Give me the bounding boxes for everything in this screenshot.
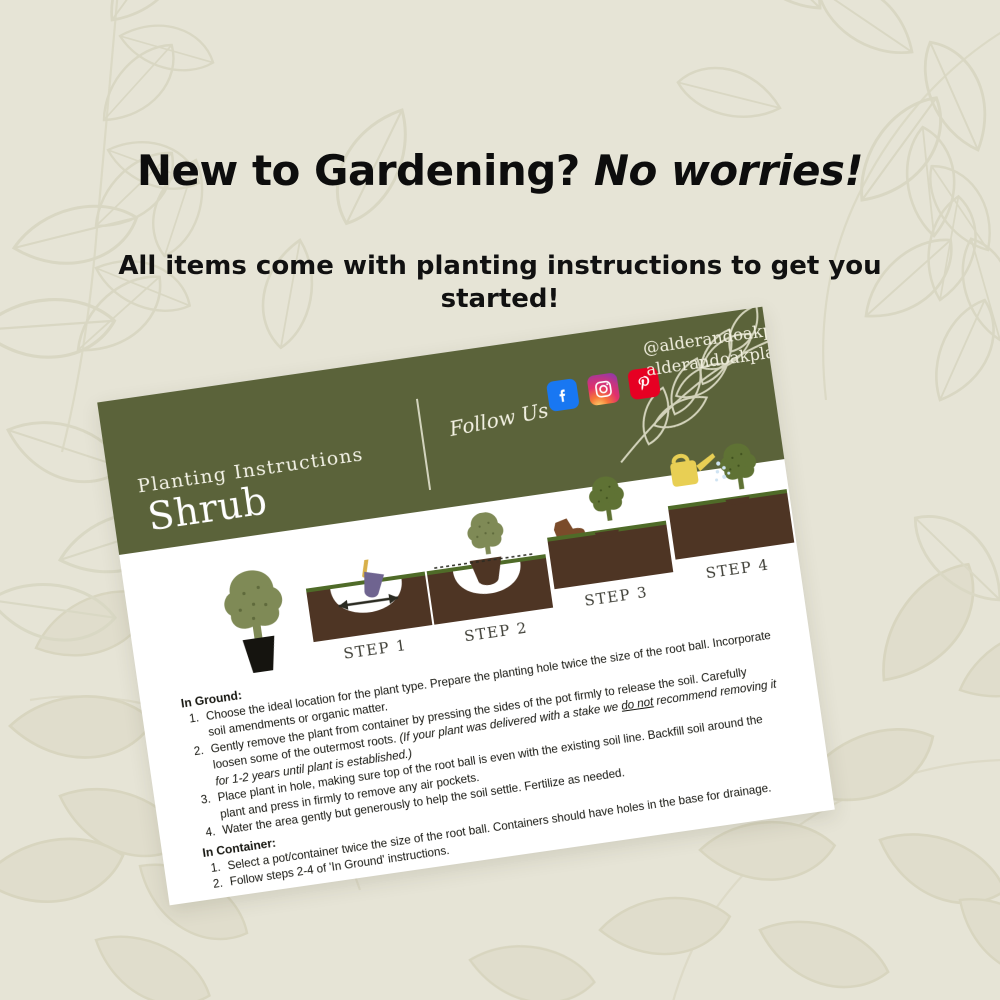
headline-emphasis: No worries! [594,146,863,195]
facebook-icon[interactable] [546,378,580,412]
planting-instruction-card: Planting Instructions Shrub Follow Us [97,307,835,906]
step-3-cell: STEP 3 [537,467,678,614]
step-1-illustration [301,551,435,644]
potted-shrub-illustration [200,558,311,683]
headline-plain: New to Gardening? [137,146,594,195]
step-4-cell: STEP 4 [657,429,800,586]
follow-us-label: Follow Us [447,398,550,441]
subheadline: All items come with planting instruction… [110,250,890,317]
step-4-illustration [657,429,797,563]
step-2-cell: STEP 2 [418,504,559,649]
subheadline-block: All items come with planting instruction… [0,250,1000,317]
headline-block: New to Gardening? No worries! [0,148,1000,194]
header-divider [416,399,431,490]
step-3-illustration [537,467,675,592]
page-title: New to Gardening? No worries! [60,148,940,194]
step-2-illustration [418,504,556,627]
step-1-cell: STEP 1 [301,551,438,667]
poster-canvas: New to Gardening? No worries! All items … [0,0,1000,1000]
instagram-icon[interactable] [586,372,620,406]
